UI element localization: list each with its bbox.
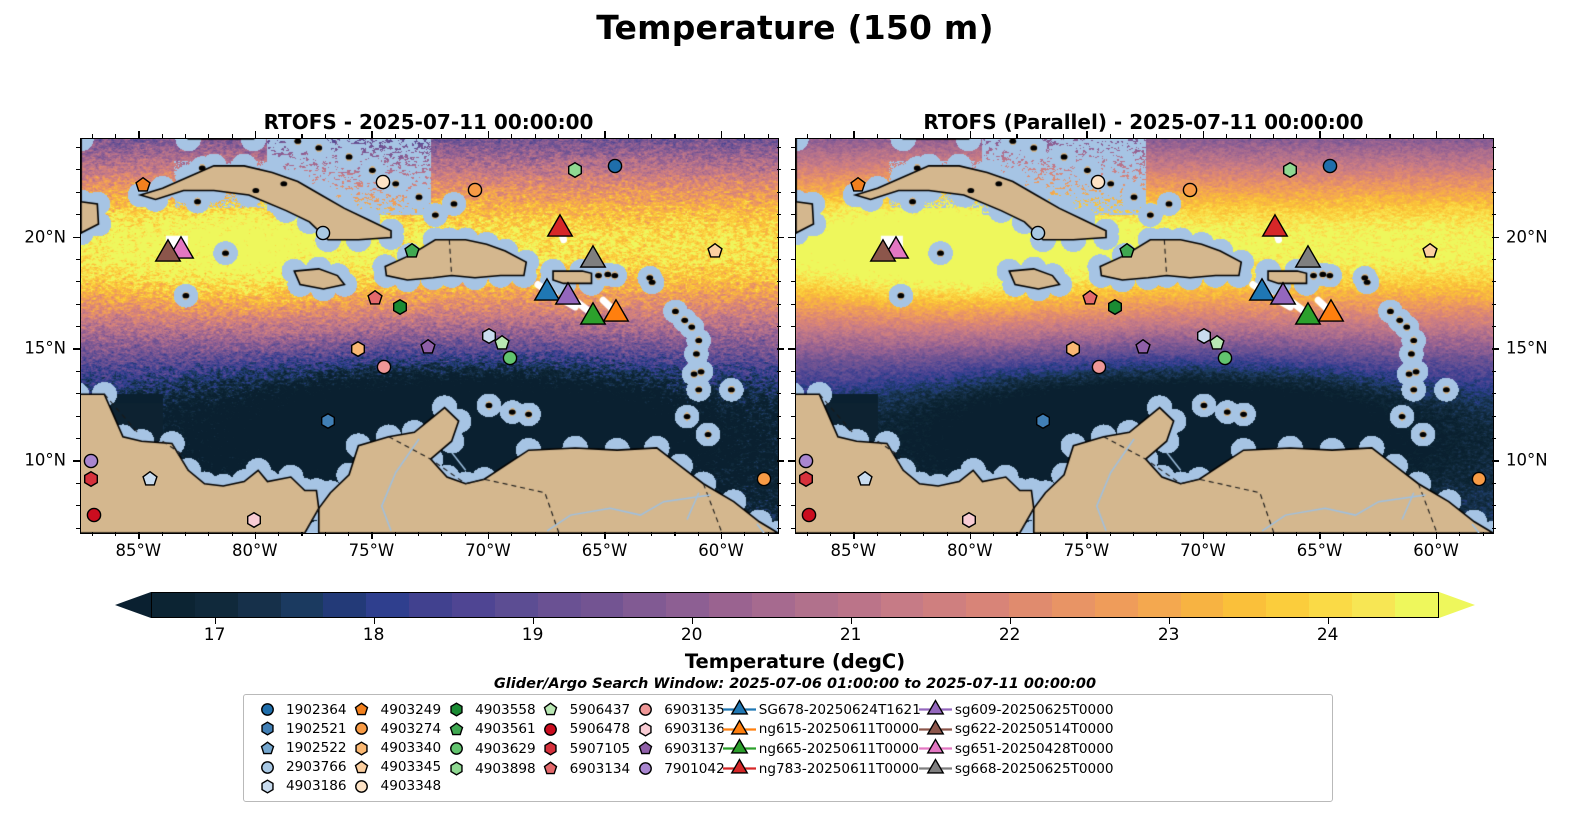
colorbar-tick	[215, 618, 216, 624]
map-marker-5906478[interactable]	[801, 508, 816, 523]
map-marker-4903561[interactable]	[405, 243, 420, 258]
xtick-minor-top	[1366, 134, 1367, 138]
xtick-minor-top	[674, 134, 675, 138]
xtick-minor-top	[1226, 134, 1227, 138]
legend-item[interactable]: 4903345	[347, 758, 442, 777]
ytick-minor-right	[1492, 483, 1496, 484]
legend-item[interactable]: SG678-20250624T1621	[725, 700, 921, 720]
colorbar-band-8	[495, 593, 538, 617]
map-marker-6903136[interactable]	[961, 512, 976, 527]
colorbar-tick	[374, 618, 375, 624]
map-panel-rtofs[interactable]	[80, 138, 779, 534]
xtick-minor-top	[1016, 134, 1017, 138]
colorbar-tick	[1169, 618, 1170, 624]
xtick-minor-top	[768, 134, 769, 138]
colorbar-band-26	[1266, 593, 1309, 617]
legend-item[interactable]: 1902522	[252, 738, 347, 757]
xtick-minor-top	[1156, 134, 1157, 138]
xtick-minor-top	[1250, 134, 1251, 138]
ytick-minor-right	[1492, 304, 1496, 305]
legend-item-label: 6903134	[566, 761, 631, 777]
legend-column-6: sg609-20250625T0000sg622-20250514T0000sg…	[921, 700, 1114, 796]
map-marker-6903135[interactable]	[1092, 360, 1107, 375]
xtick-minor	[807, 532, 808, 536]
legend-item[interactable]: 6903134	[536, 759, 631, 779]
xtick-minor-top	[1133, 134, 1134, 138]
colorbar-band-10	[581, 593, 624, 617]
map-marker-4903340[interactable]	[351, 342, 366, 357]
hexagon-icon	[252, 777, 282, 796]
ytick-minor-right	[1492, 281, 1496, 282]
map-marker-2903766[interactable]	[316, 226, 331, 241]
ytick-minor	[76, 438, 80, 439]
legend-item-label: 1902364	[282, 702, 347, 718]
pentagon-icon	[441, 720, 471, 739]
legend-item-label: ng615-20250611T0000	[755, 721, 919, 737]
legend-item-label: 4903561	[471, 721, 536, 737]
triangle-icon	[725, 700, 755, 719]
xtick-major	[138, 532, 139, 539]
legend-item-label: 5906437	[566, 702, 631, 718]
map-marker-5906437[interactable]	[1209, 335, 1224, 350]
ytick-major	[788, 460, 795, 461]
colorbar-band-23	[1138, 593, 1181, 617]
ytick-minor-right	[1492, 438, 1496, 439]
xtick-major	[721, 532, 722, 539]
xticklabel: 60°W	[698, 541, 744, 560]
map-marker-4903345[interactable]	[708, 243, 723, 258]
xtick-minor	[651, 532, 652, 536]
xtick-minor-top	[947, 134, 948, 138]
panel-title-rtofs: RTOFS - 2025-07-11 00:00:00	[80, 110, 777, 134]
ytick-minor-right	[1492, 528, 1496, 529]
colorbar-tick	[1328, 618, 1329, 624]
map-marker-sg609[interactable]	[555, 283, 582, 310]
legend-item[interactable]: sg668-20250625T0000	[921, 759, 1114, 779]
legend-item[interactable]: ng783-20250611T0000	[725, 759, 921, 779]
legend-item[interactable]: 5906478	[536, 720, 631, 740]
xtick-major-top	[371, 131, 372, 138]
xtick-minor-top	[441, 134, 442, 138]
xtick-minor	[348, 532, 349, 536]
circle-icon	[347, 777, 377, 796]
ytick-minor	[791, 326, 795, 327]
legend-item-label: 6903135	[660, 702, 725, 718]
map-marker-5906478[interactable]	[86, 508, 101, 523]
xtick-minor	[278, 532, 279, 536]
map-marker-4903345[interactable]	[1423, 243, 1438, 258]
legend-item-label: 1902522	[282, 740, 347, 756]
legend-item-label: 6903136	[660, 721, 725, 737]
legend-item[interactable]: sg609-20250625T0000	[921, 700, 1114, 720]
colorbar-band-25	[1223, 593, 1266, 617]
xtick-major-top	[604, 131, 605, 138]
map-marker-sg622[interactable]	[870, 241, 897, 268]
legend-item[interactable]: 6903136	[630, 720, 725, 740]
colorbar-tick	[851, 618, 852, 624]
xtick-major	[255, 532, 256, 539]
map-marker-4903348b[interactable]	[1472, 472, 1487, 487]
xtick-major	[1203, 532, 1204, 539]
map-marker-ng783[interactable]	[547, 215, 574, 242]
map-marker-1902522[interactable]	[142, 472, 157, 487]
triangle-icon	[921, 700, 951, 719]
map-marker-5907105[interactable]	[84, 472, 99, 487]
xtick-minor-top	[208, 134, 209, 138]
xtick-major-top	[853, 131, 854, 138]
xtick-minor	[993, 532, 994, 536]
map-marker-1902521[interactable]	[1036, 414, 1051, 429]
ytick-major	[73, 460, 80, 461]
xtick-minor	[418, 532, 419, 536]
xtick-minor	[232, 532, 233, 536]
ytick-minor-right	[777, 438, 781, 439]
ytick-minor-right	[777, 371, 781, 372]
xtick-minor	[1110, 532, 1111, 536]
ytick-minor	[76, 192, 80, 193]
xtick-major-top	[1436, 131, 1437, 138]
map-marker-4903558[interactable]	[393, 299, 408, 314]
xtick-minor	[830, 532, 831, 536]
figure-title: Temperature (150 m)	[0, 8, 1590, 47]
ytick-minor	[791, 192, 795, 193]
xtick-minor-top	[1040, 134, 1041, 138]
map-marker-1902364[interactable]	[1322, 158, 1337, 173]
xtick-minor	[1343, 532, 1344, 536]
map-marker-ng783[interactable]	[1262, 215, 1289, 242]
xtick-minor	[628, 532, 629, 536]
ytick-minor-right	[1492, 393, 1496, 394]
legend-item[interactable]: sg622-20250514T0000	[921, 720, 1114, 740]
ytick-minor-right	[1492, 326, 1496, 327]
ytick-minor-right	[777, 192, 781, 193]
triangle-icon	[921, 759, 951, 778]
ytick-minor-right	[777, 483, 781, 484]
map-marker-6903135[interactable]	[377, 360, 392, 375]
map-marker-6903134[interactable]	[1082, 290, 1097, 305]
xtick-minor-top	[1296, 134, 1297, 138]
map-marker-6903137[interactable]	[421, 340, 436, 355]
xtick-minor	[511, 532, 512, 536]
xtick-minor	[1483, 532, 1484, 536]
map-marker-4903898[interactable]	[568, 163, 583, 178]
legend-item[interactable]: 4903898	[441, 759, 536, 779]
xtick-minor	[162, 532, 163, 536]
map-marker-ng615[interactable]	[602, 300, 629, 327]
map-marker-2903766[interactable]	[1031, 226, 1046, 241]
xtick-minor	[698, 532, 699, 536]
colorbar-band-6	[409, 593, 452, 617]
ytick-minor-right	[1492, 214, 1496, 215]
circle-icon	[347, 719, 377, 738]
ytick-major-right	[777, 237, 784, 238]
legend-caption: Glider/Argo Search Window: 2025-07-06 01…	[0, 676, 1590, 692]
colorbar-band-21	[1052, 593, 1095, 617]
map-marker-1902364[interactable]	[607, 158, 622, 173]
legend-item-label: 4903345	[377, 759, 442, 775]
xtick-minor	[1226, 532, 1227, 536]
ytick-minor-right	[777, 169, 781, 170]
xtick-minor	[1180, 532, 1181, 536]
panel-title-rtofs-parallel: RTOFS (Parallel) - 2025-07-11 00:00:00	[795, 110, 1492, 134]
xtick-minor	[1413, 532, 1414, 536]
colorbar-gradient	[151, 592, 1439, 618]
ytick-minor	[76, 326, 80, 327]
legend-item[interactable]: 4903186	[252, 777, 347, 796]
xtick-minor	[877, 532, 878, 536]
xtick-minor	[1040, 532, 1041, 536]
legend-item[interactable]: 1902521	[252, 719, 347, 738]
ytick-minor-right	[777, 528, 781, 529]
map-marker-4903249[interactable]	[850, 177, 865, 192]
xtick-minor-top	[581, 134, 582, 138]
ytick-minor-right	[1492, 147, 1496, 148]
xtick-minor	[441, 532, 442, 536]
legend-item-label: 2903766	[282, 759, 347, 775]
legend-item-label: ng783-20250611T0000	[755, 761, 919, 777]
map-marker-ng615[interactable]	[1317, 300, 1344, 327]
xticklabel: 85°W	[115, 541, 161, 560]
hexagon-icon	[441, 759, 471, 778]
legend-item[interactable]: 4903558	[441, 700, 536, 720]
colorbar[interactable]: 1718192021222324	[115, 592, 1475, 618]
ytick-major-right	[777, 348, 784, 349]
legend-item-label: 4903249	[377, 702, 442, 718]
xtick-minor	[1063, 532, 1064, 536]
legend-column-3: 5906437590647859071056903134	[536, 700, 631, 796]
map-marker-4903340[interactable]	[1066, 342, 1081, 357]
map-panel-rtofs-parallel[interactable]	[795, 138, 1494, 534]
legend-item[interactable]: 5907105	[536, 739, 631, 759]
legend-item[interactable]: 6903137	[630, 739, 725, 759]
ytick-minor-right	[1492, 192, 1496, 193]
map-marker-1902522[interactable]	[857, 472, 872, 487]
map-marker-sg609[interactable]	[1270, 283, 1297, 310]
map-marker-7901042[interactable]	[799, 454, 814, 469]
temperature-field-rtofs	[81, 139, 778, 533]
temperature-field-rtofs-parallel	[796, 139, 1493, 533]
xticklabel: 80°W	[947, 541, 993, 560]
triangle-icon	[725, 759, 755, 778]
xtick-minor	[395, 532, 396, 536]
pentagon-icon	[252, 739, 282, 758]
legend-item[interactable]: ng615-20250611T0000	[725, 720, 921, 740]
ytick-major-right	[1492, 237, 1499, 238]
legend-item[interactable]: 7901042	[630, 759, 725, 779]
xtick-minor-top	[830, 134, 831, 138]
map-marker-4903348[interactable]	[375, 174, 390, 189]
xtick-major-top	[255, 131, 256, 138]
xtick-minor-top	[185, 134, 186, 138]
legend-item[interactable]: 4903561	[441, 720, 536, 740]
circle-icon	[536, 720, 566, 739]
ytick-major	[73, 237, 80, 238]
xtick-minor-top	[877, 134, 878, 138]
xtick-minor-top	[744, 134, 745, 138]
circle-icon	[630, 759, 660, 778]
legend-column-4: 6903135690313669031377901042	[630, 700, 725, 796]
ytick-minor-right	[777, 326, 781, 327]
legend-item[interactable]: ng665-20250611T0000	[725, 739, 921, 759]
ytick-minor-right	[1492, 505, 1496, 506]
xtick-minor-top	[1483, 134, 1484, 138]
ytick-minor	[791, 438, 795, 439]
colorbar-band-24	[1181, 593, 1224, 617]
colorbar-band-5	[366, 593, 409, 617]
ytick-minor-right	[777, 281, 781, 282]
ytick-minor	[791, 416, 795, 417]
xtick-major	[1319, 532, 1320, 539]
xtick-major-top	[138, 131, 139, 138]
map-marker-4903561[interactable]	[1120, 243, 1135, 258]
map-marker-1902521[interactable]	[321, 414, 336, 429]
xtick-major-top	[488, 131, 489, 138]
map-marker-4903274[interactable]	[467, 183, 482, 198]
xtick-major-top	[1203, 131, 1204, 138]
map-marker-4903898[interactable]	[1283, 163, 1298, 178]
hexagon-icon	[630, 720, 660, 739]
colorbar-ticklabel: 21	[840, 625, 862, 645]
hexagon-icon	[441, 700, 471, 719]
xticklabel: 65°W	[1297, 541, 1343, 560]
xtick-minor	[115, 532, 116, 536]
ytick-minor	[791, 483, 795, 484]
xtick-minor	[900, 532, 901, 536]
legend-item[interactable]: 4903629	[441, 739, 536, 759]
legend-item-label: sg609-20250625T0000	[951, 702, 1114, 718]
legend-item-label: 7901042	[660, 761, 725, 777]
ytick-minor	[76, 483, 80, 484]
colorbar-band-0	[152, 593, 195, 617]
legend-column-5: SG678-20250624T1621ng615-20250611T0000ng…	[725, 700, 921, 796]
colorbar-band-29	[1395, 593, 1438, 617]
yticklabel: 10°N	[24, 451, 66, 470]
ytick-minor	[76, 371, 80, 372]
xtick-major	[371, 532, 372, 539]
legend-column-0: 19023641902521190252229037664903186	[252, 700, 347, 796]
map-marker-4903629[interactable]	[1217, 351, 1232, 366]
legend-item-label: 5906478	[566, 721, 631, 737]
map-marker-6903134[interactable]	[367, 290, 382, 305]
ytick-minor	[76, 393, 80, 394]
xtick-major	[970, 532, 971, 539]
xticklabel: 85°W	[830, 541, 876, 560]
legend-item[interactable]: 6903135	[630, 700, 725, 720]
ytick-minor-right	[1492, 371, 1496, 372]
map-marker-4903249[interactable]	[135, 177, 150, 192]
ytick-minor-right	[1492, 416, 1496, 417]
xtick-minor	[1389, 532, 1390, 536]
map-marker-4903629[interactable]	[502, 351, 517, 366]
map-marker-5907105[interactable]	[799, 472, 814, 487]
xtick-minor-top	[807, 134, 808, 138]
xticklabel: 70°W	[465, 541, 511, 560]
colorbar-ticklabel: 17	[204, 625, 226, 645]
xtick-minor	[185, 532, 186, 536]
xtick-major	[604, 532, 605, 539]
xticklabel: 75°W	[349, 541, 395, 560]
legend-item-label: 4903186	[282, 778, 347, 794]
colorbar-ticklabel: 23	[1158, 625, 1180, 645]
pentagon-icon	[347, 758, 377, 777]
ytick-minor	[76, 528, 80, 529]
xticklabel: 75°W	[1064, 541, 1110, 560]
xtick-minor-top	[278, 134, 279, 138]
xtick-major-top	[721, 131, 722, 138]
map-marker-7901042[interactable]	[84, 454, 99, 469]
xtick-minor-top	[1273, 134, 1274, 138]
xtick-minor-top	[923, 134, 924, 138]
xtick-minor-top	[993, 134, 994, 138]
ytick-minor-right	[777, 214, 781, 215]
ytick-minor	[76, 416, 80, 417]
xtick-major	[1436, 532, 1437, 539]
colorbar-band-22	[1095, 593, 1138, 617]
legend-box[interactable]: 1902364190252119025222903766490318649032…	[243, 694, 1333, 802]
xtick-minor-top	[511, 134, 512, 138]
map-marker-6903137[interactable]	[1136, 340, 1151, 355]
colorbar-band-28	[1352, 593, 1395, 617]
legend-item[interactable]: 4903348	[347, 777, 442, 796]
map-marker-4903348b[interactable]	[757, 472, 772, 487]
xtick-minor-top	[162, 134, 163, 138]
colorbar-band-4	[323, 593, 366, 617]
legend-item[interactable]: 4903249	[347, 700, 442, 719]
map-marker-sg668[interactable]	[579, 246, 606, 273]
ytick-minor-right	[777, 259, 781, 260]
map-marker-4903558[interactable]	[1108, 299, 1123, 314]
circle-icon	[252, 700, 282, 719]
figure: Temperature (150 m) RTOFS - 2025-07-11 0…	[0, 0, 1590, 829]
ytick-minor	[76, 304, 80, 305]
colorbar-band-11	[623, 593, 666, 617]
colorbar-band-3	[281, 593, 324, 617]
legend-column-2: 4903558490356149036294903898	[441, 700, 536, 796]
xtick-minor	[558, 532, 559, 536]
map-marker-4903348[interactable]	[1090, 174, 1105, 189]
legend-item-label: 6903137	[660, 741, 725, 757]
map-marker-sg668[interactable]	[1294, 246, 1321, 273]
xtick-minor-top	[1389, 134, 1390, 138]
legend-item[interactable]: 2903766	[252, 758, 347, 777]
circle-icon	[441, 739, 471, 758]
ytick-minor-right	[1492, 259, 1496, 260]
map-marker-6903136[interactable]	[246, 512, 261, 527]
legend-item[interactable]: sg651-20250428T0000	[921, 739, 1114, 759]
xtick-minor	[1133, 532, 1134, 536]
ytick-minor-right	[777, 505, 781, 506]
legend-item[interactable]: 4903340	[347, 738, 442, 757]
legend-item[interactable]: 5906437	[536, 700, 631, 720]
xtick-minor-top	[301, 134, 302, 138]
ytick-minor	[76, 259, 80, 260]
xtick-minor-top	[115, 134, 116, 138]
xtick-minor	[947, 532, 948, 536]
map-marker-sg622[interactable]	[155, 241, 182, 268]
xtick-minor-top	[348, 134, 349, 138]
legend-item-label: SG678-20250624T1621	[755, 702, 921, 718]
map-marker-5906437[interactable]	[494, 335, 509, 350]
legend-item-label: 4903898	[471, 761, 536, 777]
legend-item[interactable]: 4903274	[347, 719, 442, 738]
colorbar-tick	[533, 618, 534, 624]
ytick-major-right	[777, 460, 784, 461]
ytick-minor	[76, 281, 80, 282]
legend-item[interactable]: 1902364	[252, 700, 347, 719]
map-marker-4903274[interactable]	[1182, 183, 1197, 198]
ytick-minor-right	[777, 304, 781, 305]
xtick-minor-top	[900, 134, 901, 138]
